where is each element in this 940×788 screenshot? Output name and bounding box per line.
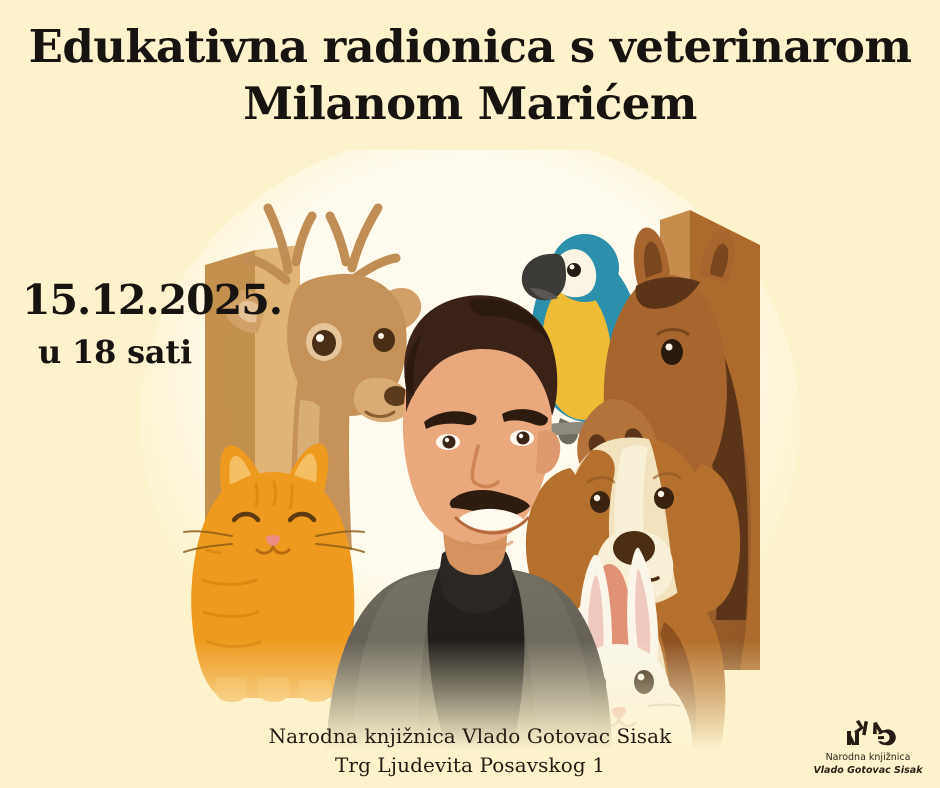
title-line-1: Edukativna radionica s veterinarom xyxy=(0,18,940,75)
footer-info: Narodna knjižnica Vlado Gotovac Sisak Tr… xyxy=(0,722,940,780)
logo-name-line-2: Vlado Gotovac Sisak xyxy=(812,765,924,778)
page-title: Edukativna radionica s veterinarom Milan… xyxy=(0,18,940,132)
left-fade xyxy=(0,150,170,750)
event-time: u 18 sati xyxy=(38,333,282,371)
footer-address: Trg Ljudevita Posavskog 1 xyxy=(0,751,940,780)
event-datetime: 15.12.2025. u 18 sati xyxy=(22,278,282,371)
library-logo: Narodna knjižnica Vlado Gotovac Sisak xyxy=(812,710,924,778)
footer-institution: Narodna knjižnica Vlado Gotovac Sisak xyxy=(0,722,940,751)
event-date: 15.12.2025. xyxy=(22,278,282,323)
title-line-2: Milanom Marićem xyxy=(0,75,940,132)
illustration-artwork xyxy=(0,150,940,750)
poster-root: Edukativna radionica s veterinarom Milan… xyxy=(0,0,940,788)
logo-monogram-icon xyxy=(812,710,924,752)
right-fade xyxy=(790,150,940,750)
logo-name-line-1: Narodna knjižnica xyxy=(812,752,924,765)
